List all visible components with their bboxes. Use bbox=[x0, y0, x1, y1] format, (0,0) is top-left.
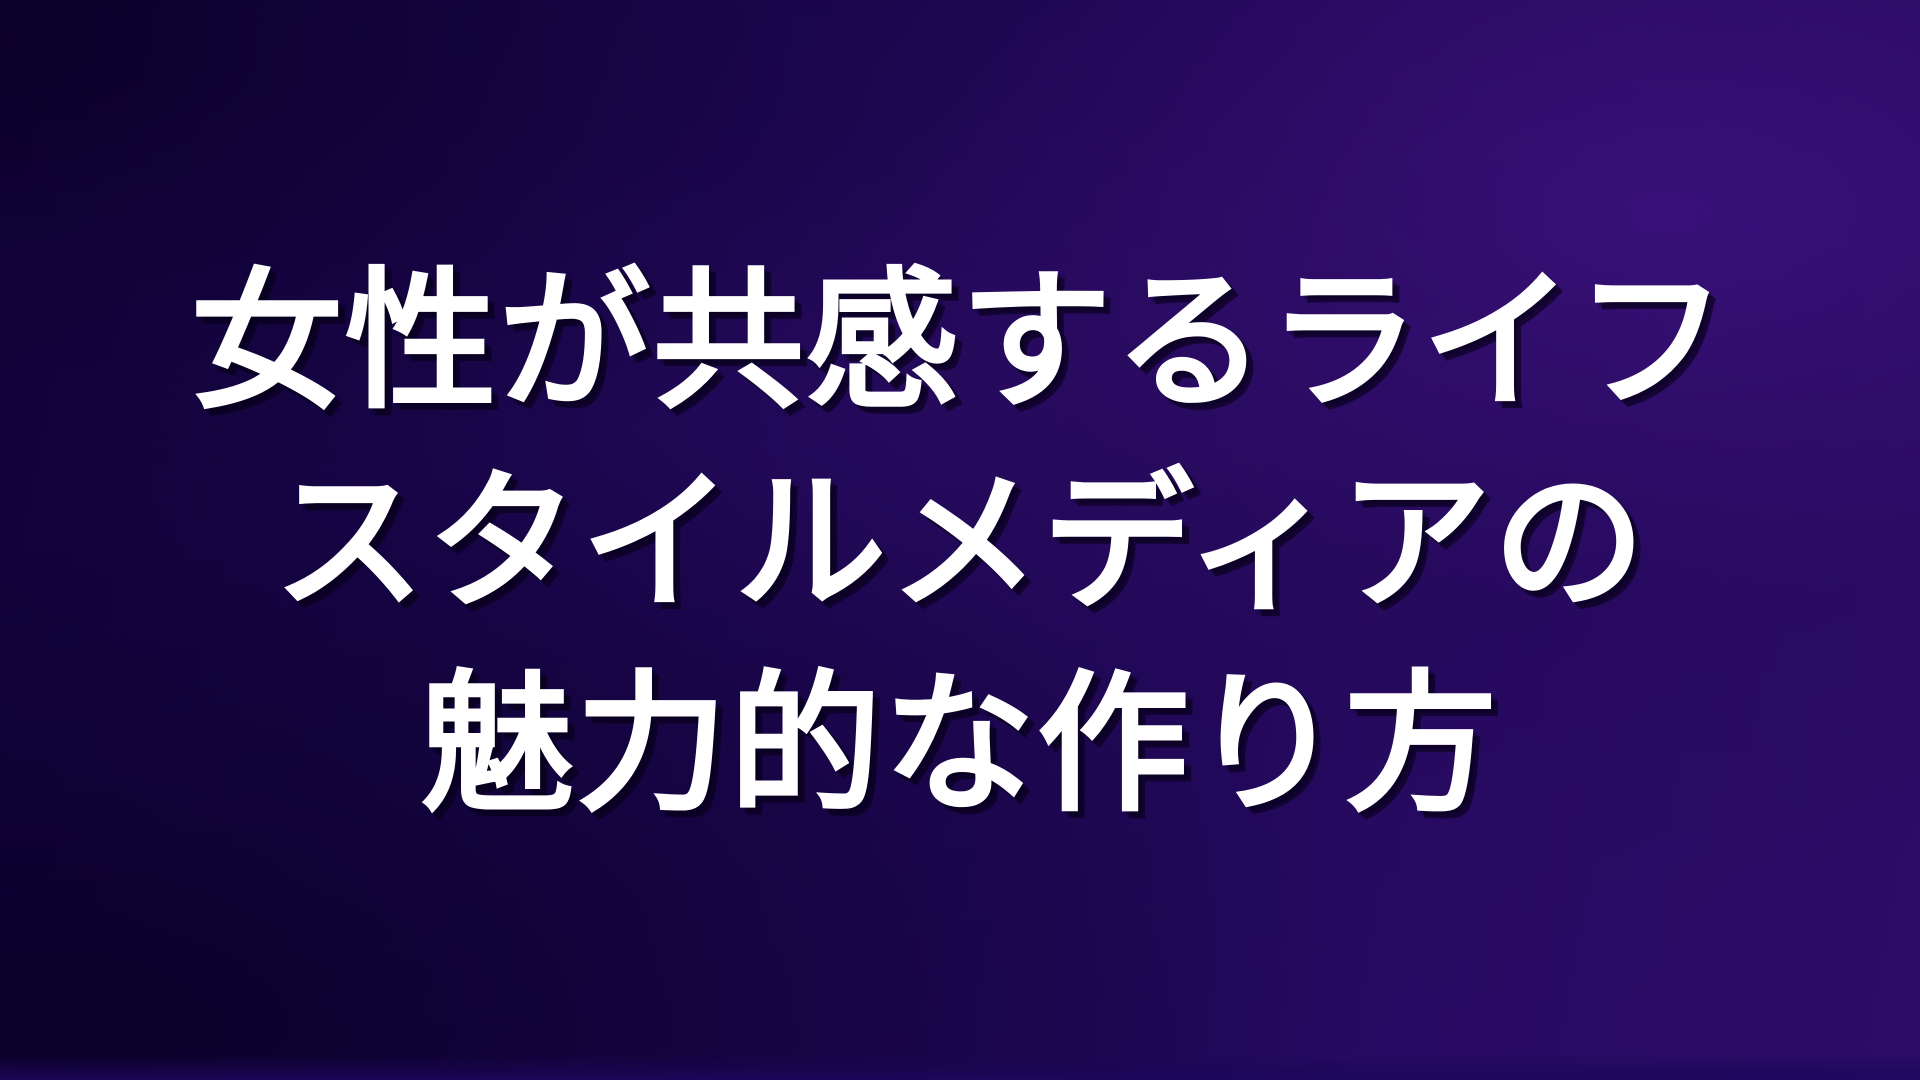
headline-block: 女性が共感するライフ スタイルメディアの 魅力的な作り方 bbox=[0, 0, 1920, 1080]
title-card-slide: 女性が共感するライフ スタイルメディアの 魅力的な作り方 bbox=[0, 0, 1920, 1080]
headline-line-1: 女性が共感するライフ bbox=[191, 243, 1729, 441]
headline-line-2: スタイルメディアの bbox=[273, 444, 1647, 642]
headline-line-3: 魅力的な作り方 bbox=[422, 646, 1499, 844]
